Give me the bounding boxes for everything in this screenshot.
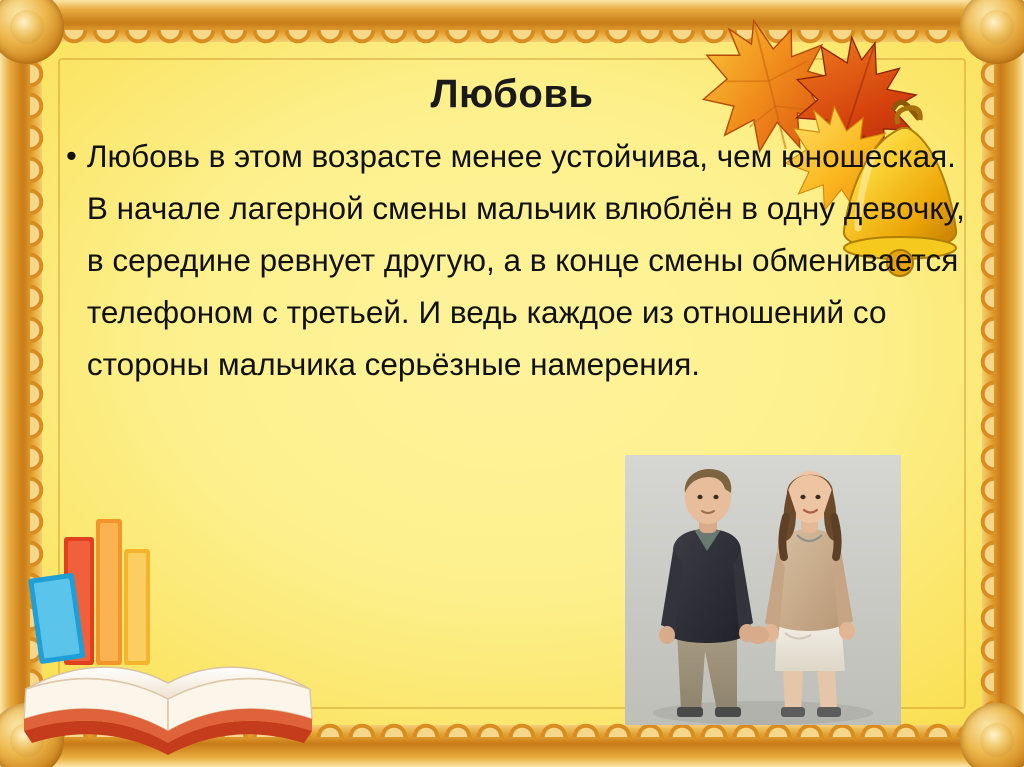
frame-corner-top-left bbox=[0, 0, 64, 64]
frame-corner-bottom-right bbox=[960, 703, 1024, 767]
open-book-icon bbox=[18, 497, 318, 757]
page-title: Любовь bbox=[0, 72, 1024, 117]
frame-bottom-band bbox=[0, 725, 1024, 767]
frame-corner-bottom-left bbox=[0, 703, 64, 767]
frame-corner-top-right bbox=[960, 0, 1024, 64]
frame-top-band bbox=[0, 0, 1024, 42]
body-bullet-item: • Любовь в этом возрасте менее устойчива… bbox=[62, 130, 968, 390]
photo-image bbox=[625, 455, 901, 725]
bullet-marker: • bbox=[66, 130, 77, 182]
slide-canvas: Любовь • Любовь в этом возрасте менее ус… bbox=[0, 0, 1024, 767]
photo-teen-couple bbox=[625, 455, 901, 725]
body-paragraph: Любовь в этом возрасте менее устойчива, … bbox=[87, 130, 968, 390]
